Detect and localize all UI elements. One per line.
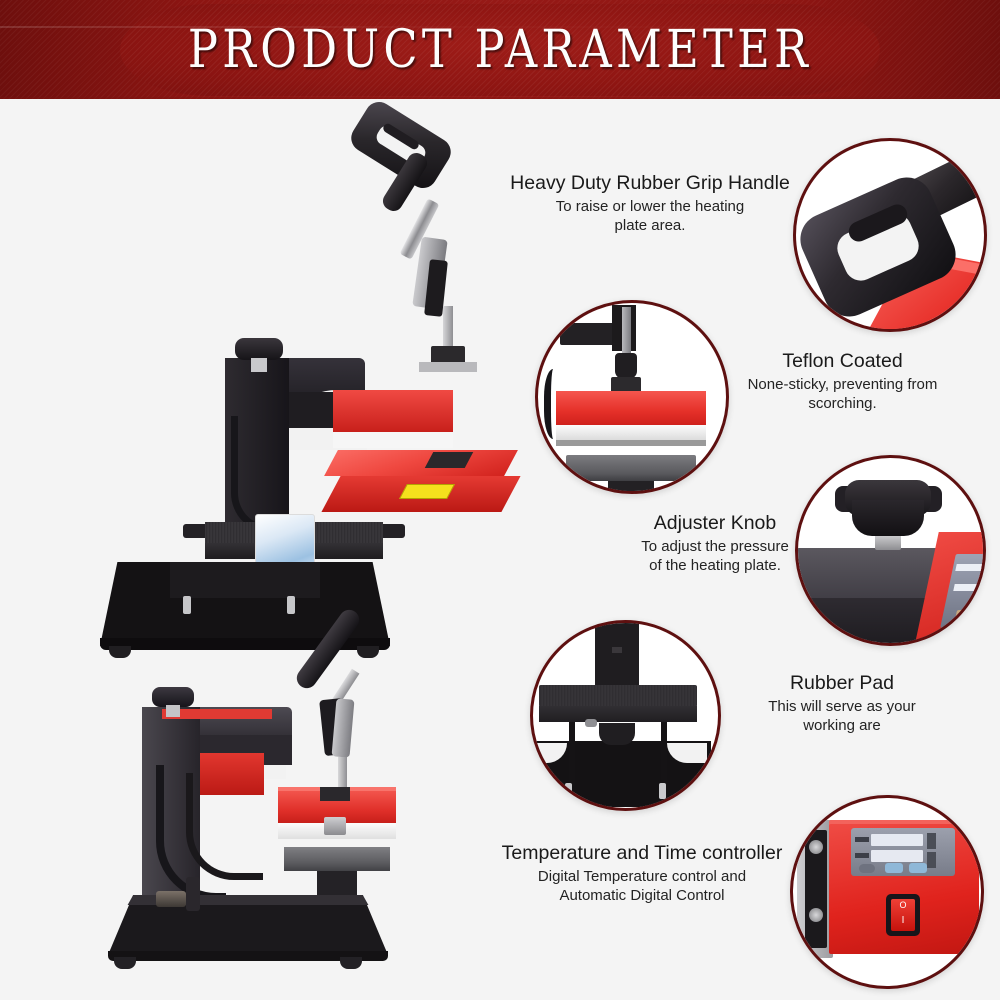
rubber-pad-top-surface xyxy=(539,685,697,707)
panel-down-button xyxy=(909,863,927,873)
rubber-pad-side-edge xyxy=(539,706,697,722)
heat-press-side-view-photo xyxy=(90,595,450,975)
feature-title-teflon: Teflon Coated xyxy=(715,350,970,373)
teflon-pedestal xyxy=(608,481,654,494)
page-title: PRODUCT PARAMETER xyxy=(70,0,930,99)
controller-hinge-screw-bottom xyxy=(809,908,823,922)
heating-plate-top xyxy=(324,450,518,476)
knob-body xyxy=(852,500,924,536)
teflon-coated-plate-photo xyxy=(535,300,729,494)
rubber-grip-handle-photo xyxy=(793,138,987,332)
base-riser xyxy=(170,562,320,598)
teflon-plate-edge xyxy=(556,440,706,446)
teflon-shaft xyxy=(622,307,631,359)
plate-chuck-bracket xyxy=(419,362,477,372)
feature-subtitle-handle-line1: To raise or lower the heating xyxy=(505,198,795,216)
product-parameter-infographic: PRODUCT PARAMETER xyxy=(0,0,1000,1000)
teflon-white-band xyxy=(556,425,706,440)
header-banner-underline xyxy=(0,97,1000,99)
side-lower-platen xyxy=(284,847,390,871)
feature-caption-handle: Heavy Duty Rubber Grip Handle To raise o… xyxy=(505,172,795,235)
side-column-foot xyxy=(156,891,186,907)
feature-title-handle: Heavy Duty Rubber Grip Handle xyxy=(505,172,795,195)
power-switch-off-label: O xyxy=(896,901,910,910)
knob-panel-display-1 xyxy=(955,564,982,571)
pad-support-leg-left xyxy=(569,722,575,786)
pad-column xyxy=(595,623,639,691)
adjuster-knob xyxy=(235,338,283,360)
feature-caption-teflon: Teflon Coated None-sticky, preventing fr… xyxy=(715,350,970,413)
controller-hinge-screw-top xyxy=(809,840,823,854)
feature-subtitle-controller-line1: Digital Temperature control and xyxy=(492,868,792,886)
adjuster-knob-stem xyxy=(251,358,267,372)
pad-wing-screw-right xyxy=(659,783,666,799)
feature-caption-controller: Temperature and Time controller Digital … xyxy=(492,842,792,905)
feature-subtitle-pad-line2: working are xyxy=(722,717,962,735)
pad-adjust-bolt xyxy=(585,719,597,727)
pad-pedestal xyxy=(599,723,635,745)
side-adjuster-knob xyxy=(152,687,194,707)
panel-set-button xyxy=(859,864,875,873)
feature-subtitle-pad-line1: This will serve as your xyxy=(722,698,962,716)
heating-plate-mount xyxy=(425,452,474,468)
feature-subtitle-handle-line2: plate area. xyxy=(505,217,795,235)
temperature-time-controller-photo: O I xyxy=(790,795,984,989)
pad-support-leg-right xyxy=(661,722,667,786)
teflon-upper-heating-plate xyxy=(556,391,706,425)
feature-title-controller: Temperature and Time controller xyxy=(492,842,792,865)
side-heating-plate-mount xyxy=(320,787,350,801)
caution-sticker xyxy=(399,484,455,499)
panel-label-time xyxy=(855,853,869,858)
time-display xyxy=(871,850,923,862)
pad-column-marker xyxy=(612,647,622,653)
panel-up-button xyxy=(885,863,903,873)
panel-side-label-top xyxy=(927,833,936,849)
feature-subtitle-teflon-line2: scorching. xyxy=(715,395,970,413)
knob-nut xyxy=(875,534,901,550)
red-arm-block xyxy=(333,390,453,432)
header-banner: PRODUCT PARAMETER xyxy=(0,0,1000,99)
side-press-shaft xyxy=(338,757,347,791)
side-plate-clip xyxy=(324,817,346,835)
pad-wing-screw-left xyxy=(565,783,572,799)
heat-press-front-view-photo xyxy=(95,110,475,580)
feature-caption-pad: Rubber Pad This will serve as your worki… xyxy=(722,672,962,735)
side-power-cable-secondary xyxy=(186,773,263,880)
panel-side-label-bottom xyxy=(927,852,936,868)
side-adjuster-knob-stem xyxy=(166,705,180,717)
side-linkage-arm xyxy=(332,698,355,757)
knob-panel-button xyxy=(955,610,977,620)
teflon-joint xyxy=(615,353,637,379)
rubber-pad-photo xyxy=(530,620,721,811)
panel-label-temperature xyxy=(855,837,869,842)
teflon-lower-platen xyxy=(566,455,696,481)
side-column-bracket xyxy=(186,877,200,911)
side-base-foot-right xyxy=(340,957,362,969)
feature-title-pad: Rubber Pad xyxy=(722,672,962,695)
feature-subtitle-controller-line2: Automatic Digital Control xyxy=(492,887,792,905)
feature-subtitle-teflon-line1: None-sticky, preventing from xyxy=(715,376,970,394)
adjuster-knob-photo xyxy=(795,455,986,646)
side-base-foot-left xyxy=(114,957,136,969)
arm-white-band xyxy=(333,432,453,448)
power-switch-on-label: I xyxy=(896,916,910,926)
temperature-display xyxy=(871,834,923,846)
side-base-highlight xyxy=(108,895,388,905)
knob-panel-display-2 xyxy=(953,584,980,591)
